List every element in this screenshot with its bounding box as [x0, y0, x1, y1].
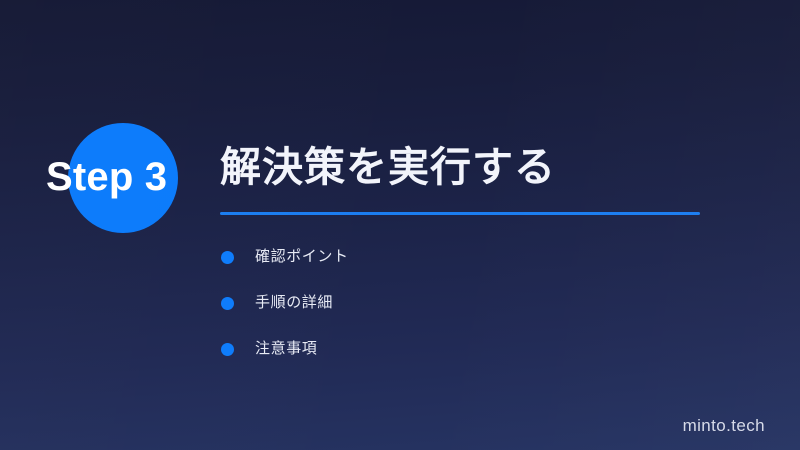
slide-title: 解決策を実行する — [220, 142, 556, 192]
list-item-label: 手順の詳細 — [255, 293, 333, 313]
bullet-dot-icon — [221, 343, 234, 356]
slide-canvas: Step 3 解決策を実行する 確認ポイント 手順の詳細 注意事項 minto.… — [0, 0, 800, 450]
bullet-dot-icon — [221, 251, 234, 264]
title-divider — [220, 212, 700, 215]
list-item-label: 注意事項 — [255, 339, 317, 359]
list-item: 確認ポイント — [220, 234, 690, 280]
list-item: 注意事項 — [220, 326, 690, 372]
bullet-list: 確認ポイント 手順の詳細 注意事項 — [220, 234, 690, 372]
step-badge-label: Step 3 — [46, 152, 226, 202]
list-item: 手順の詳細 — [220, 280, 690, 326]
list-item-label: 確認ポイント — [255, 247, 349, 267]
footer-brand-label: minto.tech — [683, 416, 765, 436]
bullet-dot-icon — [221, 297, 234, 310]
